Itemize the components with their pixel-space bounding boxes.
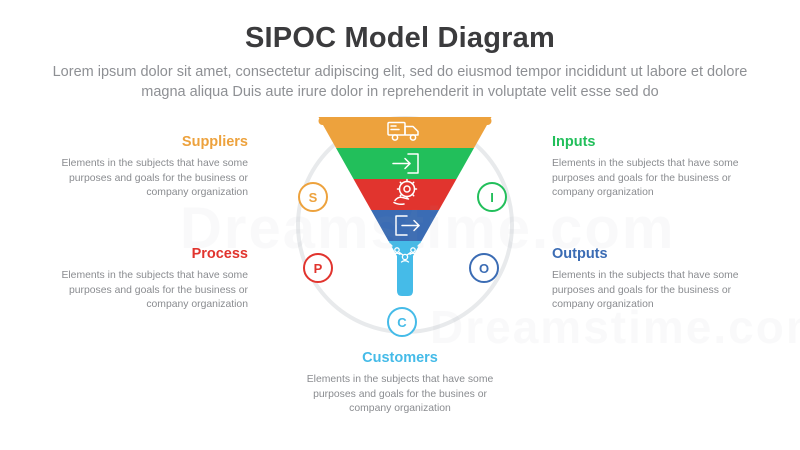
badge-suppliers[interactable]: S (298, 182, 328, 212)
section-suppliers: Suppliers Elements in the subjects that … (58, 134, 248, 201)
section-process-description: Elements in the subjects that have some … (58, 269, 248, 313)
badge-outputs-letter: O (479, 262, 489, 275)
section-customers: Customers Elements in the subjects that … (300, 350, 500, 417)
section-inputs: Inputs Elements in the subjects that hav… (552, 134, 742, 201)
badge-inputs-letter: I (490, 191, 494, 204)
badge-customers[interactable]: C (387, 307, 417, 337)
badge-inputs[interactable]: I (477, 182, 507, 212)
badge-process[interactable]: P (303, 253, 333, 283)
section-suppliers-description: Elements in the subjects that have some … (58, 157, 248, 201)
funnel-band-process (354, 179, 457, 210)
section-suppliers-title: Suppliers (58, 134, 248, 151)
section-inputs-description: Elements in the subjects that have some … (552, 157, 742, 201)
section-outputs-description: Elements in the subjects that have some … (552, 269, 742, 313)
badge-suppliers-letter: S (309, 191, 318, 204)
section-outputs: Outputs Elements in the subjects that ha… (552, 246, 742, 313)
section-inputs-title: Inputs (552, 134, 742, 151)
sipoc-diagram-page: SIPOC Model Diagram Lorem ipsum dolor si… (0, 0, 800, 450)
page-subtitle: Lorem ipsum dolor sit amet, consectetur … (30, 62, 770, 102)
badge-customers-letter: C (397, 316, 406, 329)
badge-process-letter: P (314, 262, 323, 275)
section-process-title: Process (58, 246, 248, 263)
section-customers-description: Elements in the subjects that have some … (300, 373, 500, 417)
section-customers-title: Customers (300, 350, 500, 367)
section-process: Process Elements in the subjects that ha… (58, 246, 248, 313)
badge-outputs[interactable]: O (469, 253, 499, 283)
page-title: SIPOC Model Diagram (0, 22, 800, 55)
funnel-band-customers (389, 241, 422, 296)
section-outputs-title: Outputs (552, 246, 742, 263)
